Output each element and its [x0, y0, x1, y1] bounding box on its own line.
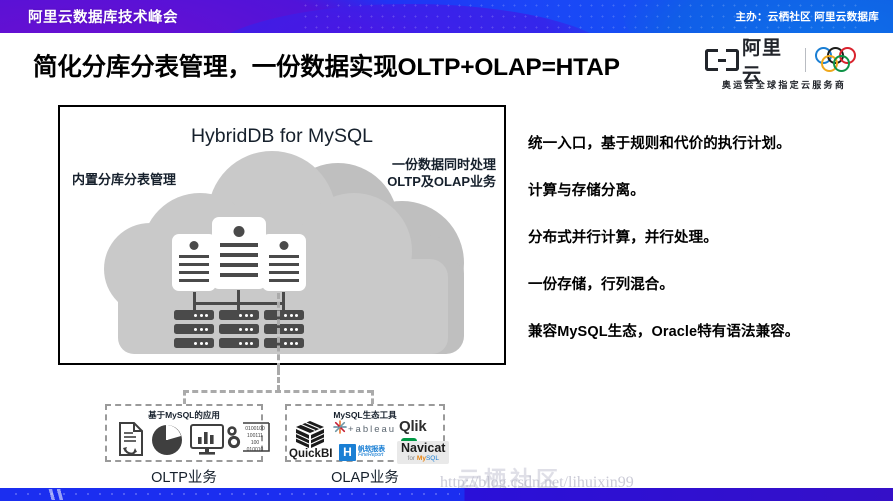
- aliyun-logo-block: 阿里云 奥运会全球指定云服务商: [695, 45, 873, 97]
- database-node-icon: [172, 234, 216, 291]
- oltp-heading: 基于MySQL的应用: [107, 409, 261, 421]
- bullet-point: 统一入口，基于规则和代价的执行计划。: [528, 132, 880, 153]
- connector-vertical-trunk: [277, 369, 280, 391]
- database-node-icon: [212, 217, 266, 289]
- server-rack-icon: [174, 310, 214, 320]
- pie-chart-icon: [151, 424, 183, 456]
- svg-text:100111: 100111: [247, 433, 263, 439]
- navicat-text: Navicat: [401, 442, 445, 455]
- server-rack-icon: [219, 310, 259, 320]
- svg-text:010010: 010010: [247, 447, 264, 453]
- bullet-point: 兼容MySQL生态，Oracle特有语法兼容。: [528, 320, 880, 341]
- oltp-business-box: 基于MySQL的应用: [105, 404, 263, 462]
- quickbi-cube-icon: [293, 418, 327, 452]
- connector-vertical-oltp: [183, 390, 186, 404]
- key-points-list: 统一入口，基于规则和代价的执行计划。 计算与存储分离。 分布式并行计算，并行处理…: [528, 132, 880, 367]
- svg-text:100: 100: [251, 440, 260, 446]
- connector-horizontal: [183, 390, 373, 393]
- navicat-sql: SQL: [426, 455, 439, 462]
- database-node-icon: [262, 234, 306, 291]
- finereport-text: 帆软报表 FineReport: [358, 446, 385, 459]
- server-rack-icon: [264, 310, 304, 320]
- oltp-caption: OLTP业务: [105, 466, 263, 487]
- qlik-text: Qlik: [399, 418, 427, 435]
- olympic-rings-icon: [815, 47, 873, 73]
- event-title: 阿里云数据库技术峰会: [28, 6, 178, 27]
- server-rack-icon: [174, 338, 214, 348]
- bullet-point: 一份存储，行列混合。: [528, 273, 880, 294]
- server-rack-icon: [264, 324, 304, 334]
- server-rack-icon: [219, 324, 259, 334]
- bullet-point: 分布式并行计算，并行处理。: [528, 226, 880, 247]
- aliyun-bracket-icon: [705, 49, 739, 71]
- server-rack-icon: [174, 324, 214, 334]
- navicat-subtext: for MySQL: [401, 455, 445, 462]
- footer-slash-mark: [40, 489, 66, 500]
- finereport-en: FineReport: [358, 453, 385, 459]
- architecture-diagram: HybridDB for MySQL 内置分库分表管理 一份数据同时处理 OLT…: [58, 105, 506, 365]
- bullet-point: 计算与存储分离。: [528, 179, 880, 200]
- cloud-icon: [90, 149, 480, 354]
- logo-divider: [805, 48, 806, 72]
- navicat-logo: Navicat for MySQL: [397, 441, 449, 464]
- gears-binary-icon: 0100100 100111 100 010010: [225, 421, 269, 451]
- server-rack-icon: [264, 338, 304, 348]
- olap-business-box: MySQL生态工具 QuickBI +ableau: [285, 404, 445, 462]
- event-header-bar: 阿里云数据库技术峰会 主办：云栖社区 阿里云数据库: [0, 0, 893, 33]
- olap-caption: OLAP业务: [285, 466, 445, 487]
- svg-text:0100100: 0100100: [245, 426, 265, 432]
- quickbi-label: QuickBI: [289, 448, 332, 460]
- connector-vertical-main: [277, 293, 280, 369]
- document-sync-icon: [117, 421, 145, 457]
- product-title: HybridDB for MySQL: [60, 125, 504, 148]
- aliyun-brand-text: 阿里云: [742, 33, 796, 87]
- finereport-mark-icon: H: [339, 444, 356, 461]
- slide-canvas: 阿里云数据库技术峰会 主办：云栖社区 阿里云数据库 简化分库分表管理，一份数据实…: [0, 0, 893, 501]
- server-rack-icon: [219, 338, 259, 348]
- footer-dot-pattern: [10, 488, 460, 501]
- bar-chart-monitor-icon: [189, 423, 225, 456]
- page-title: 简化分库分表管理，一份数据实现OLTP+OLAP=HTAP: [33, 48, 620, 83]
- event-sponsor: 主办：云栖社区 阿里云数据库: [735, 9, 879, 24]
- navicat-for: for: [408, 455, 417, 462]
- connector-vertical-olap: [371, 390, 374, 404]
- footer-bar: [0, 488, 893, 501]
- tableau-label: +ableau: [348, 424, 396, 435]
- finereport-logo: H 帆软报表 FineReport: [339, 444, 385, 461]
- logo-row: 阿里云: [695, 45, 873, 75]
- tableau-mark-icon: [333, 420, 347, 434]
- navicat-my: My: [417, 455, 426, 462]
